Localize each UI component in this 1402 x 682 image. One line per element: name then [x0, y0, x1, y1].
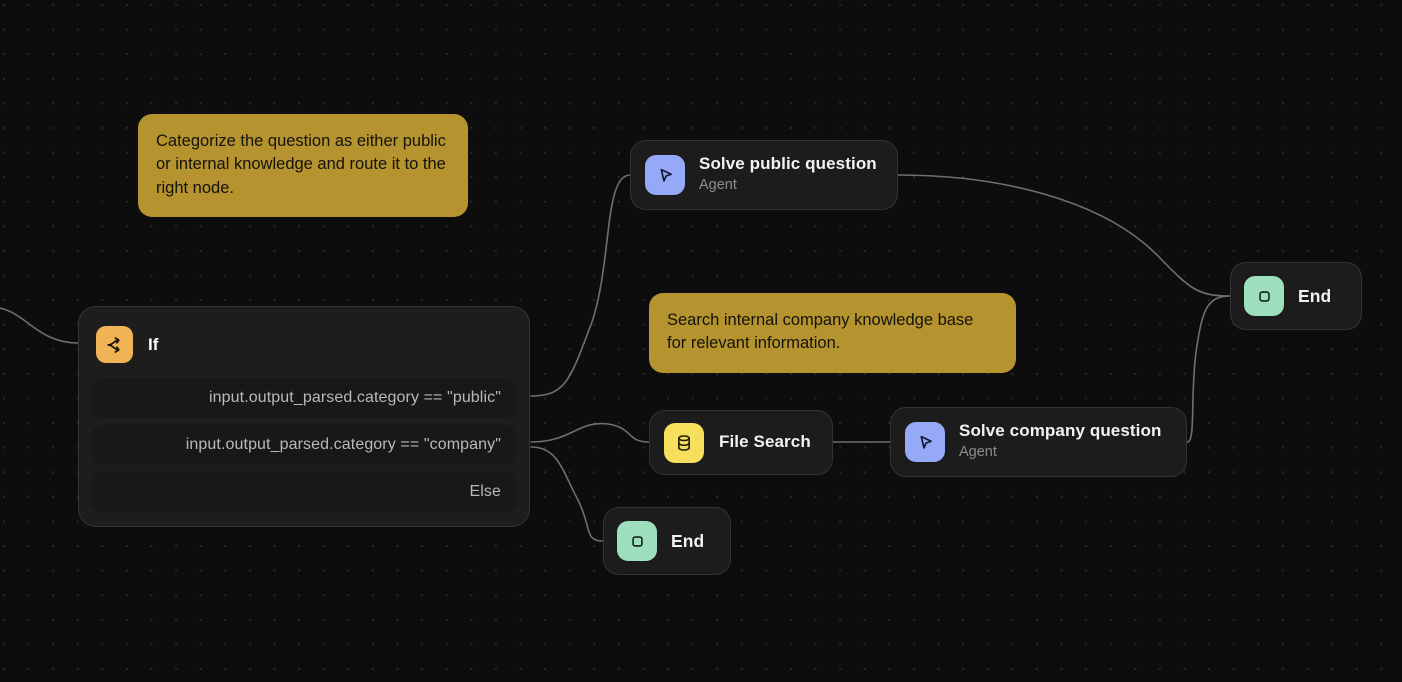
edge-solve-company-to-end-top — [1187, 296, 1230, 442]
if-node-title: If — [148, 335, 158, 355]
stop-square-icon — [1244, 276, 1284, 316]
node-title: End — [1298, 286, 1331, 307]
if-condition-text: input.output_parsed.category == "company… — [186, 436, 501, 454]
if-conditions-list: input.output_parsed.category == "public"… — [92, 378, 516, 512]
node-title: End — [671, 531, 704, 552]
if-condition-row-else[interactable]: Else — [92, 472, 516, 512]
node-if[interactable]: If input.output_parsed.category == "publ… — [78, 306, 530, 527]
if-condition-row-company[interactable]: input.output_parsed.category == "company… — [92, 425, 516, 465]
node-subtitle: Agent — [699, 176, 877, 196]
node-label-group: Solve company question Agent — [959, 421, 1161, 463]
agent-cursor-icon — [905, 422, 945, 462]
if-condition-row-public[interactable]: input.output_parsed.category == "public" — [92, 378, 516, 418]
sticky-note-categorize[interactable]: Categorize the question as either public… — [138, 114, 468, 217]
if-condition-text: Else — [469, 483, 501, 501]
node-solve-public-question[interactable]: Solve public question Agent — [630, 140, 898, 210]
node-end-bottom[interactable]: End — [603, 507, 731, 575]
workflow-canvas[interactable]: Categorize the question as either public… — [0, 0, 1402, 682]
sticky-note-search[interactable]: Search internal company knowledge base f… — [649, 293, 1016, 373]
branch-split-icon — [96, 326, 133, 363]
edge-if-else-to-end-bottom — [531, 447, 603, 541]
edge-input-to-if — [0, 307, 78, 343]
node-title: File Search — [719, 432, 811, 452]
node-label-group: End — [1298, 286, 1331, 307]
sticky-note-text: Categorize the question as either public… — [156, 132, 446, 197]
node-file-search[interactable]: File Search — [649, 410, 833, 475]
node-subtitle: Agent — [959, 443, 1161, 463]
edge-solve-public-to-end-top — [898, 175, 1230, 296]
sticky-note-text: Search internal company knowledge base f… — [667, 311, 973, 352]
node-title: Solve public question — [699, 154, 877, 174]
agent-cursor-icon — [645, 155, 685, 195]
node-solve-company-question[interactable]: Solve company question Agent — [890, 407, 1187, 477]
node-title: Solve company question — [959, 421, 1161, 441]
if-condition-text: input.output_parsed.category == "public" — [209, 389, 501, 407]
if-node-header: If — [92, 320, 516, 366]
edge-if-company-to-file-search — [531, 424, 649, 442]
node-label-group: Solve public question Agent — [699, 154, 877, 196]
edge-if-public-to-solve-public — [531, 175, 630, 396]
stop-square-icon — [617, 521, 657, 561]
node-label-group: End — [671, 531, 704, 552]
database-icon — [664, 423, 704, 463]
node-end-top[interactable]: End — [1230, 262, 1362, 330]
node-label-group: File Search — [719, 432, 811, 452]
